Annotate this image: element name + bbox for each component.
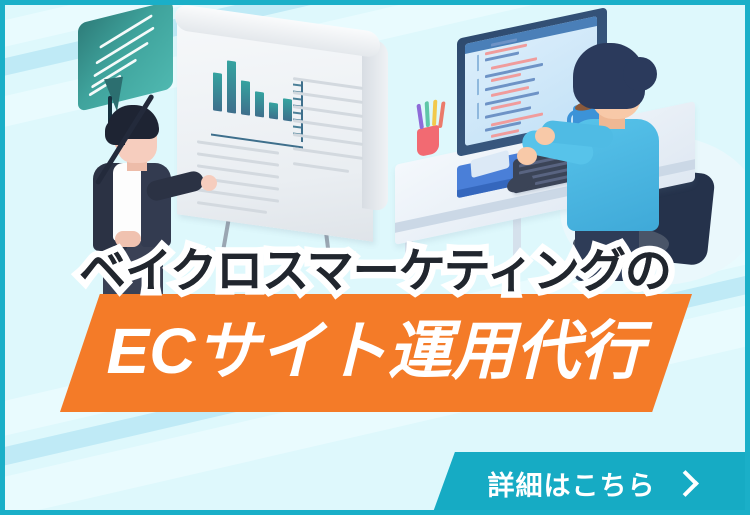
speech-bubble-icon bbox=[78, 12, 173, 100]
chevron-right-icon bbox=[672, 470, 699, 497]
details-button-label: 詳細はこちら bbox=[488, 464, 656, 503]
service-name: ECサイト運用代行 bbox=[0, 300, 750, 392]
headline-outline: ベイクロスマーケティングの bbox=[0, 232, 750, 301]
flipchart bbox=[175, 18, 380, 233]
promo-banner: ベイクロスマーケティングの ベイクロスマーケティングの ECサイト運用代行 詳細… bbox=[0, 0, 750, 515]
pencil-cup bbox=[417, 125, 439, 158]
details-button-inner[interactable]: 詳細はこちら bbox=[432, 452, 750, 515]
bar-chart bbox=[213, 52, 293, 121]
details-button[interactable]: 詳細はこちら bbox=[432, 452, 750, 515]
